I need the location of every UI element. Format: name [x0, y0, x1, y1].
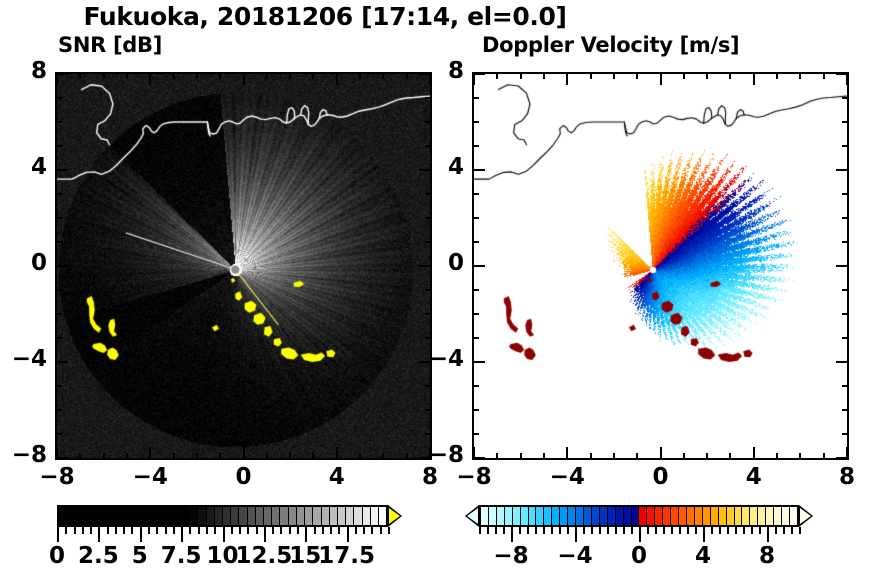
colorbar-tick-label: 0	[12, 543, 102, 569]
colorbar-minor-tick	[799, 527, 801, 534]
colorbar-major-tick	[305, 527, 307, 542]
colorbar-segment	[687, 507, 695, 525]
colorbar-major-tick	[140, 527, 142, 542]
colorbar-major-tick	[703, 527, 705, 542]
colorbar-tick-label: 7.5	[136, 543, 226, 569]
colorbar-major-tick	[767, 527, 769, 542]
colorbar-minor-tick	[791, 527, 793, 534]
colorbar-minor-tick	[527, 527, 529, 534]
colorbar-minor-tick	[206, 527, 208, 534]
radar-figure: Fukuoka, 20181206 [17:14, el=0.0] SNR [d…	[0, 0, 870, 570]
colorbar-segment	[363, 507, 371, 525]
colorbar-minor-tick	[198, 527, 200, 534]
colorbar-minor-tick	[289, 527, 291, 534]
colorbar-minor-tick	[607, 527, 609, 534]
colorbar-segment	[608, 507, 616, 525]
figure-title: Fukuoka, 20181206 [17:14, el=0.0]	[0, 2, 650, 31]
colorbar-minor-tick	[98, 527, 100, 534]
colorbar-minor-tick	[363, 527, 365, 534]
colorbar-minor-tick	[247, 527, 249, 534]
colorbar-tick-label: −8	[466, 543, 556, 569]
colorbar-minor-tick	[655, 527, 657, 534]
colorbar-minor-tick	[371, 527, 373, 534]
colorbar-segment	[330, 507, 338, 525]
x-axis-tick-label: 4	[714, 464, 794, 490]
colorbar-segment	[280, 507, 288, 525]
colorbar-minor-tick	[511, 527, 513, 534]
colorbar-under-arrow	[465, 505, 479, 527]
colorbar-segment	[774, 507, 782, 525]
colorbar-minor-tick	[615, 527, 617, 534]
colorbar-segment	[354, 507, 362, 525]
colorbar-segment	[703, 507, 711, 525]
y-axis-tick-label: −8	[0, 442, 47, 468]
colorbar-minor-tick	[559, 527, 561, 534]
colorbar-segment	[616, 507, 624, 525]
colorbar-segment	[313, 507, 321, 525]
colorbar-minor-tick	[719, 527, 721, 534]
colorbar-segment	[719, 507, 727, 525]
colorbar-segment	[758, 507, 766, 525]
colorbar-segment	[513, 507, 521, 525]
colorbar-segment	[521, 507, 529, 525]
colorbar-minor-tick	[107, 527, 109, 534]
colorbar-minor-tick	[687, 527, 689, 534]
colorbar-minor-tick	[214, 527, 216, 534]
colorbar-minor-tick	[314, 527, 316, 534]
colorbar-over-arrow-fill	[800, 508, 811, 524]
colorbar-segment	[92, 507, 100, 525]
x-axis-tick-label: 8	[807, 464, 870, 490]
colorbar-segment	[116, 507, 124, 525]
colorbar-minor-tick	[519, 527, 521, 534]
colorbar-over-arrow	[388, 505, 402, 527]
colorbar-segment	[568, 507, 576, 525]
colorbar-segment	[248, 507, 256, 525]
colorbar-segment	[592, 507, 600, 525]
colorbar-minor-tick	[115, 527, 117, 534]
colorbar-segment	[59, 507, 67, 525]
colorbar-segment	[272, 507, 280, 525]
colorbar-tick-label: 2.5	[53, 543, 143, 569]
colorbar-segment	[790, 507, 797, 525]
colorbar-segment	[766, 507, 774, 525]
colorbar-minor-tick	[623, 527, 625, 534]
colorbar-minor-tick	[767, 527, 769, 534]
colorbar-tick-label: 10	[178, 543, 268, 569]
colorbar-minor-tick	[272, 527, 274, 534]
colorbar-gradient	[479, 505, 799, 527]
colorbar-segment	[108, 507, 116, 525]
colorbar-segment	[735, 507, 743, 525]
colorbar-minor-tick	[703, 527, 705, 534]
colorbar-gradient	[57, 505, 388, 527]
colorbar-segment	[782, 507, 790, 525]
colorbar-minor-tick	[535, 527, 537, 534]
colorbar-segment	[223, 507, 231, 525]
colorbar-minor-tick	[695, 527, 697, 534]
colorbar-over-arrow	[799, 505, 813, 527]
colorbar-major-tick	[181, 527, 183, 542]
colorbar-segment	[671, 507, 679, 525]
colorbar-tick-label: 4	[658, 543, 748, 569]
colorbar-segment	[141, 507, 149, 525]
colorbar-segment	[198, 507, 206, 525]
colorbar-major-tick	[639, 527, 641, 542]
colorbar-segment	[552, 507, 560, 525]
doppler-radar-field	[474, 74, 847, 458]
colorbar-segment	[529, 507, 537, 525]
colorbar-segment	[711, 507, 719, 525]
colorbar-segment	[133, 507, 141, 525]
colorbar-minor-tick	[599, 527, 601, 534]
colorbar-minor-tick	[355, 527, 357, 534]
colorbar-segment	[182, 507, 190, 525]
colorbar-minor-tick	[591, 527, 593, 534]
doppler-plot-area[interactable]	[472, 72, 849, 460]
colorbar-minor-tick	[264, 527, 266, 534]
x-axis-tick-label: 0	[204, 464, 284, 490]
colorbar-minor-tick	[735, 527, 737, 534]
colorbar-tick-label: 8	[722, 543, 812, 569]
colorbar-minor-tick	[727, 527, 729, 534]
colorbar-segment	[166, 507, 174, 525]
x-axis-tick-label: 8	[390, 464, 470, 490]
colorbar-segment	[84, 507, 92, 525]
colorbar-segment	[207, 507, 215, 525]
colorbar-segment	[544, 507, 552, 525]
colorbar-segment	[505, 507, 513, 525]
colorbar-segment	[695, 507, 703, 525]
x-axis-tick-label: −8	[17, 464, 97, 490]
snr-plot-area[interactable]	[55, 72, 432, 460]
colorbar-over-arrow-fill	[389, 508, 400, 524]
colorbar-minor-tick	[631, 527, 633, 534]
colorbar-segment	[322, 507, 330, 525]
y-axis-tick-label: 8	[0, 58, 47, 84]
snr-panel-title: SNR [dB]	[58, 33, 162, 57]
colorbar-segment	[100, 507, 108, 525]
y-axis-tick-label: −4	[0, 346, 47, 372]
colorbar-minor-tick	[495, 527, 497, 534]
colorbar-minor-tick	[156, 527, 158, 534]
colorbar-segment	[231, 507, 239, 525]
colorbar-segment	[371, 507, 379, 525]
colorbar-segment	[489, 507, 497, 525]
colorbar-major-tick	[511, 527, 513, 542]
colorbar-segment	[481, 507, 489, 525]
y-axis-tick-label: 4	[0, 154, 47, 180]
colorbar-segment	[576, 507, 584, 525]
colorbar-tick-label: 5	[95, 543, 185, 569]
colorbar-minor-tick	[380, 527, 382, 534]
colorbar-major-tick	[98, 527, 100, 542]
colorbar-minor-tick	[189, 527, 191, 534]
colorbar-segment	[239, 507, 247, 525]
colorbar-minor-tick	[487, 527, 489, 534]
colorbar-segment	[655, 507, 663, 525]
colorbar-minor-tick	[330, 527, 332, 534]
colorbar-minor-tick	[90, 527, 92, 534]
colorbar-minor-tick	[305, 527, 307, 534]
colorbar-minor-tick	[165, 527, 167, 534]
colorbar-major-tick	[347, 527, 349, 542]
colorbar-segment	[750, 507, 758, 525]
colorbar-minor-tick	[148, 527, 150, 534]
colorbar-under-arrow-fill	[467, 508, 478, 524]
colorbar-tick-label: −4	[530, 543, 620, 569]
colorbar-segment	[379, 507, 386, 525]
colorbar-minor-tick	[583, 527, 585, 534]
colorbar-segment	[67, 507, 75, 525]
colorbar-minor-tick	[679, 527, 681, 534]
colorbar-minor-tick	[123, 527, 125, 534]
colorbar-minor-tick	[567, 527, 569, 534]
colorbar-minor-tick	[503, 527, 505, 534]
colorbar-minor-tick	[231, 527, 233, 534]
colorbar-minor-tick	[639, 527, 641, 534]
colorbar-segment	[256, 507, 264, 525]
colorbar-minor-tick	[74, 527, 76, 534]
colorbar-major-tick	[57, 527, 59, 542]
colorbar-minor-tick	[388, 527, 390, 534]
colorbar-segment	[346, 507, 354, 525]
colorbar-minor-tick	[711, 527, 713, 534]
x-axis-tick-label: −4	[527, 464, 607, 490]
y-axis-tick-label: 0	[0, 250, 47, 276]
colorbar-minor-tick	[239, 527, 241, 534]
colorbar-segment	[190, 507, 198, 525]
colorbar-segment	[305, 507, 313, 525]
colorbar-segment	[297, 507, 305, 525]
x-axis-tick-label: −4	[110, 464, 190, 490]
x-axis-tick-label: 4	[297, 464, 377, 490]
colorbar-segment	[727, 507, 735, 525]
colorbar-minor-tick	[775, 527, 777, 534]
colorbar-segment	[125, 507, 133, 525]
colorbar-segment	[75, 507, 83, 525]
colorbar-segment	[584, 507, 592, 525]
colorbar-tick-label: 12.5	[219, 543, 309, 569]
x-axis-tick-label: −8	[434, 464, 514, 490]
colorbar-minor-tick	[479, 527, 481, 534]
colorbar-minor-tick	[280, 527, 282, 534]
colorbar-segment	[647, 507, 655, 525]
doppler-panel-title: Doppler Velocity [m/s]	[482, 33, 739, 57]
colorbar-minor-tick	[338, 527, 340, 534]
colorbar-major-tick	[264, 527, 266, 542]
colorbar-minor-tick	[181, 527, 183, 534]
colorbar-segment	[215, 507, 223, 525]
colorbar-segment	[338, 507, 346, 525]
colorbar-minor-tick	[223, 527, 225, 534]
colorbar-minor-tick	[65, 527, 67, 534]
colorbar-minor-tick	[57, 527, 59, 534]
colorbar-segment	[536, 507, 544, 525]
colorbar-minor-tick	[575, 527, 577, 534]
colorbar-minor-tick	[671, 527, 673, 534]
colorbar-segment	[663, 507, 671, 525]
colorbar-segment	[679, 507, 687, 525]
colorbar-minor-tick	[647, 527, 649, 534]
colorbar-minor-tick	[751, 527, 753, 534]
colorbar-minor-tick	[297, 527, 299, 534]
colorbar-segment	[174, 507, 182, 525]
colorbar-minor-tick	[256, 527, 258, 534]
colorbar-minor-tick	[783, 527, 785, 534]
colorbar-minor-tick	[759, 527, 761, 534]
colorbar-minor-tick	[663, 527, 665, 534]
colorbar-minor-tick	[347, 527, 349, 534]
colorbar-minor-tick	[173, 527, 175, 534]
colorbar-minor-tick	[322, 527, 324, 534]
colorbar-segment	[600, 507, 608, 525]
colorbar-minor-tick	[140, 527, 142, 534]
colorbar-segment	[149, 507, 157, 525]
colorbar-segment	[639, 507, 647, 525]
colorbar-segment	[497, 507, 505, 525]
colorbar-segment	[289, 507, 297, 525]
colorbar-segment	[632, 507, 640, 525]
colorbar-major-tick	[575, 527, 577, 542]
colorbar-segment	[742, 507, 750, 525]
colorbar-segment	[560, 507, 568, 525]
colorbar-segment	[157, 507, 165, 525]
colorbar-minor-tick	[543, 527, 545, 534]
snr-radar-field	[57, 74, 430, 458]
colorbar-minor-tick	[743, 527, 745, 534]
colorbar-tick-label: 17.5	[302, 543, 392, 569]
x-axis-tick-label: 0	[621, 464, 701, 490]
colorbar-minor-tick	[82, 527, 84, 534]
colorbar-segment	[624, 507, 632, 525]
colorbar-minor-tick	[551, 527, 553, 534]
colorbar-minor-tick	[131, 527, 133, 534]
colorbar-tick-label: 15	[260, 543, 350, 569]
colorbar-tick-label: 0	[594, 543, 684, 569]
colorbar-major-tick	[223, 527, 225, 542]
colorbar-segment	[264, 507, 272, 525]
